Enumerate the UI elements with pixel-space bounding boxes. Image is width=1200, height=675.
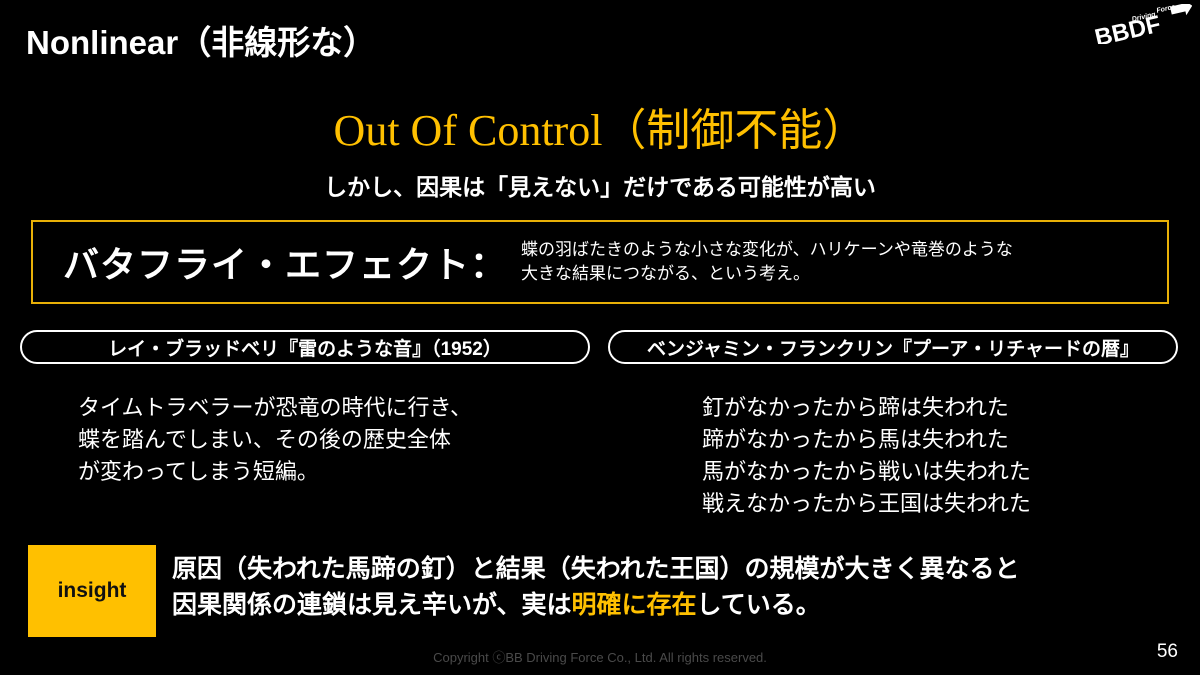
page-number: 56 (1157, 641, 1178, 663)
column-body-line: 釘がなかったから蹄は失われた (702, 392, 1031, 424)
slide-root: BBDF Driving Force Nonlinear（非線形な） Out O… (0, 0, 1200, 675)
insight-line-2-before: 因果関係の連鎖は見え辛いが、実は (172, 591, 572, 619)
column-body-line: 馬がなかったから戦いは失われた (702, 456, 1031, 488)
column-header-pill-right: ベンジャミン・フランクリン『プーア・リチャードの暦』 (608, 330, 1178, 364)
insight-line-2-after: している。 (697, 591, 821, 619)
column-body-line: が変わってしまう短編。 (78, 456, 472, 488)
column-body-line: 蹄がなかったから馬は失われた (702, 424, 1031, 456)
column-body-line: タイムトラベラーが恐竜の時代に行き、 (78, 392, 472, 424)
definition-term: バタフライ・エフェクト： (33, 236, 521, 288)
insight-line-1: 原因（失われた馬蹄の釘）と結果（失われた王国）の規模が大きく異なると (172, 552, 1020, 588)
insight-badge: insight (28, 545, 156, 637)
definition-description-line: 大きな結果につながる、という考え。 (521, 262, 1155, 286)
copyright-notice: Copyright ⓒBB Driving Force Co., Ltd. Al… (0, 647, 1200, 666)
column-body-line: 戦えなかったから王国は失われた (702, 488, 1031, 520)
definition-box: バタフライ・エフェクト： 蝶の羽ばたきのような小さな変化が、ハリケーンや竜巻のよ… (31, 220, 1169, 304)
column-body-line: 蝶を踏んでしまい、その後の歴史全体 (78, 424, 472, 456)
insight-text: 原因（失われた馬蹄の釘）と結果（失われた王国）の規模が大きく異なると 因果関係の… (172, 552, 1020, 623)
bbdf-logo-icon: BBDF Driving Force (1088, 4, 1192, 44)
insight-line-2-highlight: 明確に存在 (572, 591, 697, 619)
company-logo: BBDF Driving Force (1088, 4, 1192, 44)
column-body-left: タイムトラベラーが恐竜の時代に行き、 蝶を踏んでしまい、その後の歴史全体 が変わ… (78, 392, 472, 488)
subheadline: しかし、因果は「見えない」だけである可能性が高い (0, 168, 1200, 202)
definition-description-line: 蝶の羽ばたきのような小さな変化が、ハリケーンや竜巻のような (521, 238, 1155, 262)
insight-line-2: 因果関係の連鎖は見え辛いが、実は明確に存在している。 (172, 588, 1020, 624)
column-header-pill-left: レイ・ブラッドベリ『雷のような音』（1952） (20, 330, 590, 364)
page-title: Nonlinear（非線形な） (26, 16, 376, 64)
definition-description: 蝶の羽ばたきのような小さな変化が、ハリケーンや竜巻のような 大きな結果につながる… (521, 238, 1167, 286)
column-body-right: 釘がなかったから蹄は失われた 蹄がなかったから馬は失われた 馬がなかったから戦い… (702, 392, 1031, 520)
headline: Out Of Control（制御不能） (0, 94, 1200, 158)
